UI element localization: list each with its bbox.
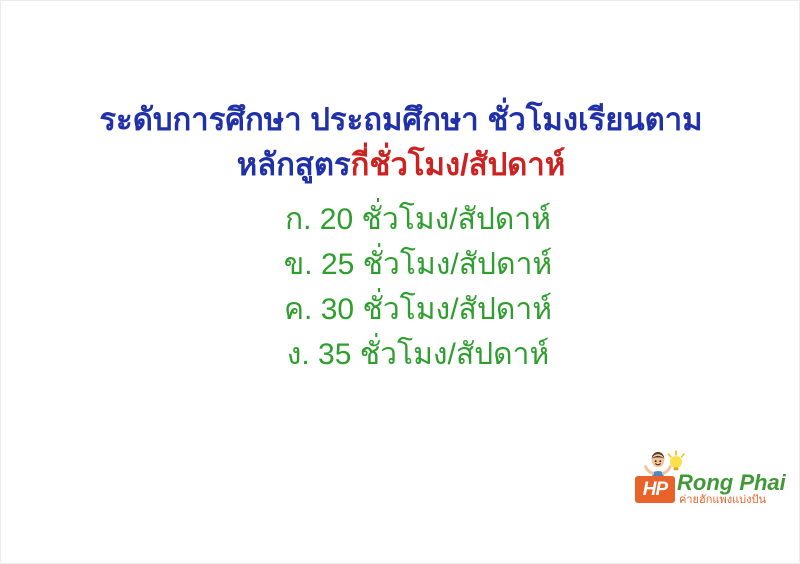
answer-choice-c[interactable]: ค. 30 ชั่วโมง/สัปดาห์ [1,287,800,332]
slide-canvas: ระดับการศึกษา ประถมศึกษา ชั่วโมงเรียนตาม… [0,0,800,564]
answer-choice-d[interactable]: ง. 35 ชั่วโมง/สัปดาห์ [1,332,800,377]
choice-unit: ชั่วโมง/สัปดาห์ [360,338,550,371]
logo-wordmark: Rong Phai [677,471,786,495]
choice-number: 25 [321,248,354,281]
question-line-2-blue-segment: หลักสูตร [237,147,351,182]
answer-choice-a[interactable]: ก. 20 ชั่วโมง/สัปดาห์ [1,197,800,242]
answer-choice-b[interactable]: ข. 25 ชั่วโมง/สัปดาห์ [1,242,800,287]
choice-label: ง. [287,338,310,371]
choice-label: ค. [284,293,312,326]
question-line-1: ระดับการศึกษา ประถมศึกษา ชั่วโมงเรียนตาม [1,97,800,142]
choice-unit: ชั่วโมง/สัปดาห์ [362,293,552,326]
choice-number: 35 [318,338,351,371]
choice-unit: ชั่วโมง/สัปดาห์ [362,203,552,236]
choice-label: ก. [285,203,312,236]
brand-logo: HP Rong Phai ค่ายฮักแพงแบ่งปัน [629,449,781,511]
choice-label: ข. [284,248,313,281]
choice-number: 30 [321,293,354,326]
answer-choice-list: ก. 20 ชั่วโมง/สัปดาห์ ข. 25 ชั่วโมง/สัปด… [1,197,800,377]
choice-number: 20 [320,203,353,236]
hp-logo-mark: HP [635,476,675,503]
question-line-2-red-segment: กี่ชั่วโมง/สัปดาห์ [351,147,566,182]
question-line-2: หลักสูตรกี่ชั่วโมง/สัปดาห์ [1,142,800,187]
logo-tagline: ค่ายฮักแพงแบ่งปัน [679,494,766,507]
question-block: ระดับการศึกษา ประถมศึกษา ชั่วโมงเรียนตาม… [1,97,800,187]
question-line-1-text: ระดับการศึกษา ประถมศึกษา ชั่วโมงเรียนตาม [99,102,702,137]
choice-unit: ชั่วโมง/สัปดาห์ [363,248,553,281]
